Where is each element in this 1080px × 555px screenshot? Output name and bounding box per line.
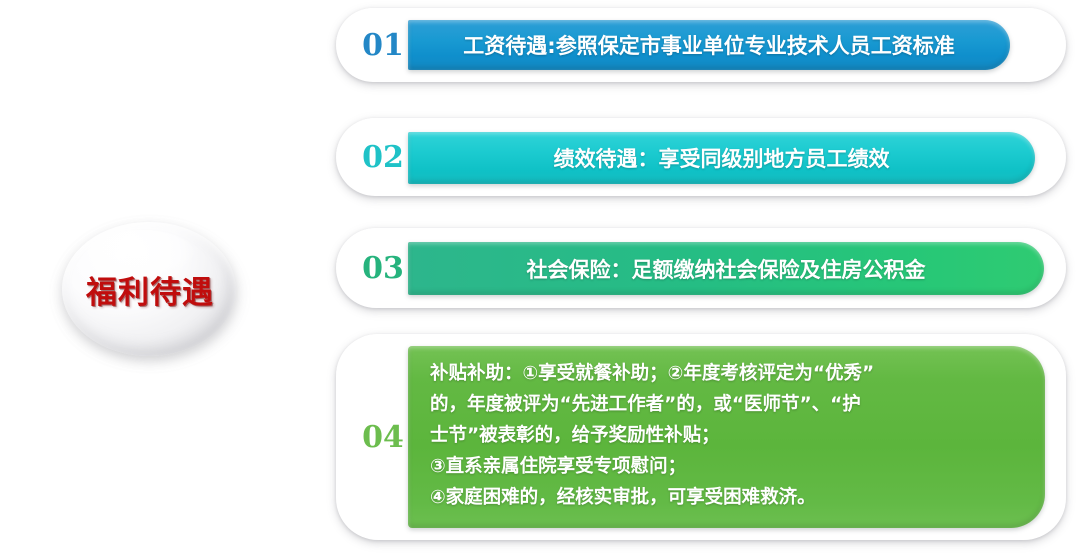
row-number-4: 04: [350, 408, 416, 466]
row-bar-1: 工资待遇:参照保定市事业单位专业技术人员工资标准: [408, 20, 1010, 70]
badge-label: 福利待遇: [55, 215, 245, 363]
row-text-3: 社会保险：足额缴纳社会保险及住房公积金: [527, 254, 926, 284]
title-badge: 福利待遇: [55, 215, 245, 363]
row-number-3: 03: [350, 239, 416, 297]
row-number-2: 02: [350, 128, 416, 186]
row-bar-2: 绩效待遇：享受同级别地方员工绩效: [408, 132, 1035, 184]
row-text-1: 工资待遇:参照保定市事业单位专业技术人员工资标准: [463, 30, 954, 60]
row-number-1: 01: [350, 16, 416, 74]
row-text-2: 绩效待遇：享受同级别地方员工绩效: [554, 143, 890, 173]
slide-canvas: 福利待遇 01 工资待遇:参照保定市事业单位专业技术人员工资标准 02 绩效待遇…: [0, 0, 1080, 555]
row-bar-4: 补贴补助：①享受就餐补助；②年度考核评定为“优秀” 的，年度被评为“先进工作者”…: [408, 346, 1045, 528]
row-bar-3: 社会保险：足额缴纳社会保险及住房公积金: [408, 242, 1044, 295]
row-text-4: 补贴补助：①享受就餐补助；②年度考核评定为“优秀” 的，年度被评为“先进工作者”…: [430, 358, 874, 513]
